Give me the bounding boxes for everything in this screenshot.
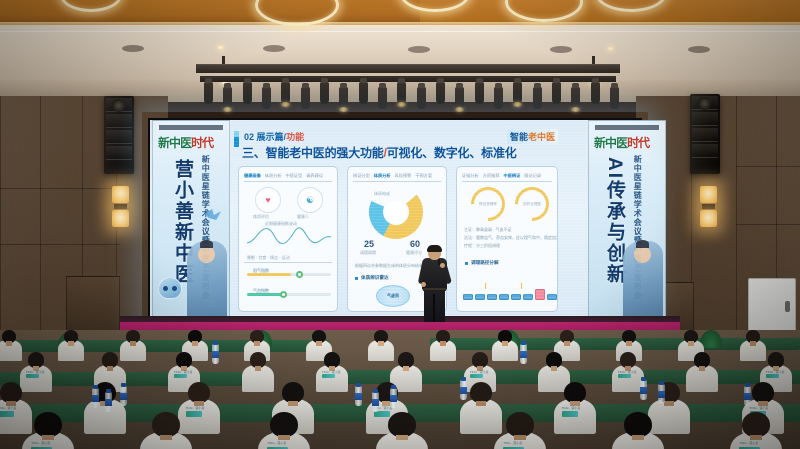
stage-par-light — [320, 82, 329, 104]
attendee-neck — [192, 341, 198, 346]
card-tab[interactable]: 随访记录 — [524, 173, 541, 179]
stage-par-light — [455, 87, 464, 109]
heart-icon: ♥ — [265, 195, 270, 205]
line-array-speaker — [690, 94, 720, 174]
water-bottle — [120, 386, 127, 406]
water-bottle — [640, 380, 647, 400]
stage-light-lens-icon — [281, 102, 290, 107]
stage-light-lens-icon — [513, 102, 522, 107]
attendee-head — [752, 382, 774, 403]
divider — [244, 262, 332, 263]
bottle-label — [520, 351, 527, 358]
card-tab-bar[interactable]: 辨证分型 体质分析 风险预警 干预方案 — [353, 171, 442, 180]
audience-member — [612, 412, 664, 449]
bottle-label — [640, 387, 647, 394]
stage-par-light — [591, 82, 600, 104]
attendee-neck — [632, 435, 643, 440]
stage-par-light — [494, 87, 503, 109]
slide-kicker: 02 展示篇/功能 — [244, 130, 304, 143]
banner-logo-main: 新中医 — [594, 136, 627, 150]
divider — [244, 181, 332, 182]
bottle-cap — [521, 341, 526, 345]
stage-par-light — [262, 87, 271, 109]
attendee-neck — [107, 366, 114, 371]
stage-par-light — [204, 82, 213, 104]
divider — [353, 181, 441, 182]
dashboard-card-health-profile[interactable]: 健康画像 体质分析 中医证型 调养建议 ♥ ☯ 体质评估 健康人 近期健康指数波… — [238, 166, 338, 312]
radar-chip: 气虚质 — [376, 285, 410, 307]
audience-member — [242, 352, 274, 390]
tee-logo — [26, 374, 39, 378]
slide-kicker-main: 展示篇 — [257, 132, 284, 142]
attendee-neck — [564, 341, 570, 346]
slide-accent-bar-top — [234, 131, 239, 137]
attendee-head — [270, 412, 297, 437]
ceiling-main-soffit — [0, 25, 800, 83]
tee-logo — [618, 374, 631, 378]
card-tab-bar[interactable]: 健康画像 体质分析 中医证型 调养建议 — [244, 171, 333, 180]
tee-logo-text: TING · 营小善 — [618, 370, 637, 374]
conference-hall-scene: 02 展示篇/功能 三、智能老中医的强大功能/可视化、数字化、标准化 智能老中医… — [0, 0, 800, 449]
attendee-neck — [551, 366, 558, 371]
water-bottle — [372, 392, 379, 412]
audience-member: TING · 营小善 — [730, 412, 782, 449]
presenter-hand — [421, 282, 426, 287]
bottle-cap — [93, 385, 98, 389]
audience-member: TING · 营小善 — [494, 412, 546, 449]
stage-par-light — [301, 87, 310, 109]
diagnosis-bullet: 治法：健脾益气、养血安神，佐以理气和中，随症加减 — [464, 235, 558, 241]
bottle-cap — [745, 383, 750, 387]
gauge-accuracy-label: 辨证准确率 — [471, 202, 505, 207]
attendee-head — [388, 412, 415, 437]
pathway-pill[interactable] — [463, 294, 473, 300]
bottle-cap — [391, 385, 396, 389]
card-tab[interactable]: 体质分析 — [265, 173, 282, 179]
robot-head-icon — [155, 277, 185, 313]
tee-logo-text: TING · 营小善 — [26, 370, 45, 374]
tee-logo — [322, 374, 335, 378]
attendee-neck — [278, 435, 289, 440]
constitution-donut-chart — [360, 185, 432, 239]
audience-member — [140, 412, 192, 449]
tee-logo — [0, 411, 14, 417]
bottle-label — [460, 387, 467, 394]
pathway-pill-row — [463, 289, 557, 300]
attendee-neck — [514, 435, 525, 440]
tee-logo-text: TING · 营小善 — [267, 441, 286, 445]
card-note: 根据四诊合参数据生成的体质分布结果 — [355, 263, 423, 269]
attendee-neck — [664, 401, 673, 406]
tee-logo-text: TING · 营小善 — [503, 441, 522, 445]
stage-par-light — [436, 82, 445, 104]
slide-title: 三、智能老中医的强大功能/可视化、数字化、标准化 — [242, 144, 517, 161]
stage-light-lens-icon — [223, 107, 232, 112]
scholar-illustration-right — [623, 241, 663, 319]
bottle-cap — [356, 383, 361, 387]
bottle-cap — [213, 341, 218, 345]
slider-knob[interactable] — [296, 271, 303, 278]
wall-sconce-icon — [112, 186, 129, 228]
line-array-speaker — [104, 96, 134, 174]
section-marker — [355, 277, 358, 280]
constitution-icon-badge: ♥ — [255, 187, 281, 213]
health-trend-line-chart — [247, 223, 331, 249]
attendee-head — [0, 382, 22, 403]
lighting-truss — [196, 64, 620, 73]
card-tab[interactable]: 健康画像 — [244, 173, 261, 179]
banner-headline-right: AI传承与创新 — [605, 157, 624, 285]
bottle-label — [92, 395, 99, 402]
water-bottle — [460, 380, 467, 400]
presenter-speaking — [419, 246, 449, 324]
tee-logo-text: TING · 营小善 — [750, 406, 769, 410]
stage-light-lens-icon — [397, 102, 406, 107]
slide-title-part-b: 可视化、数字化、标准化 — [387, 146, 517, 160]
slider-track[interactable] — [247, 293, 331, 296]
brand-logo-main: 智能 — [510, 132, 528, 142]
diagnosis-bullet: 主证：脾胃虚弱 · 气血不足 — [464, 227, 512, 233]
attendee-neck — [403, 366, 410, 371]
tee-logo-text: TING · 营小善 — [322, 370, 341, 374]
audience-member — [430, 330, 456, 360]
ceiling-speaker-icon — [688, 46, 710, 53]
speaker-cone-icon — [698, 97, 711, 110]
attendee-head — [34, 412, 61, 437]
attendee-head — [564, 382, 586, 403]
ceiling-speaker-icon — [263, 45, 285, 52]
attendee-head — [152, 412, 179, 437]
stage-par-light — [243, 82, 252, 104]
stage-par-light — [417, 87, 426, 109]
card-tab[interactable]: 中医辨证 — [504, 173, 521, 179]
bottle-cap — [461, 377, 466, 381]
dashboard-card-tcm-diagnosis[interactable]: 证候分析 方药推荐 中医辨证 随访记录 辨证准确率 用药合理度 主证：脾胃虚弱 … — [456, 166, 558, 312]
audience-member: TING · 营小善 — [258, 412, 310, 449]
tee-logo-text: TING · 营小善 — [766, 370, 785, 374]
water-bottle — [355, 386, 362, 406]
brand-logo-alt: 老中医 — [528, 132, 555, 142]
slide-kicker-number: 02 — [244, 132, 254, 142]
divider — [462, 181, 552, 182]
ceiling-downlight-icon — [608, 47, 613, 50]
tee-logo-text: TING · 营小善 — [186, 406, 205, 410]
tee-logo — [174, 374, 187, 378]
ceiling-downlight-icon — [218, 46, 223, 49]
slider-track[interactable] — [247, 273, 331, 276]
pathway-pill[interactable] — [475, 294, 485, 300]
attendee-neck — [68, 341, 74, 346]
pathway-pill-highlight[interactable] — [535, 289, 545, 300]
kpi-left-caption: 调理周期 — [360, 250, 376, 256]
audience-member: TING · 营小善 — [554, 382, 596, 432]
banner-top-bar — [595, 125, 659, 130]
banner-top-bar — [159, 125, 223, 130]
audience-member — [376, 412, 428, 449]
card-tab[interactable]: 体质分析 — [374, 173, 391, 179]
stage-par-light — [513, 82, 522, 104]
tee-logo-text: TING · 营小善 — [739, 441, 758, 445]
attendee-neck — [288, 401, 297, 406]
attendee-neck — [699, 366, 706, 371]
scholar-illustration-left — [187, 241, 227, 319]
kpi-left-value: 25 — [364, 239, 374, 249]
section-title: 体质辨识雷达 — [361, 275, 389, 281]
tee-logo — [470, 374, 483, 378]
conference-table — [0, 340, 330, 352]
pathway-pill[interactable] — [499, 294, 509, 300]
bottle-label — [658, 391, 665, 398]
stage-par-light — [359, 82, 368, 104]
audience-member: TING · 营小善 — [22, 412, 74, 449]
attendee-neck — [255, 366, 262, 371]
slider-row-qixue[interactable]: 气血指数 — [247, 289, 331, 299]
attendee-neck — [440, 341, 446, 346]
tee-logo-text: TING · 营小善 — [174, 370, 193, 374]
presenter-legs — [424, 290, 445, 324]
bottle-cap — [641, 377, 646, 381]
bottle-label — [390, 395, 397, 402]
stage-par-light — [223, 87, 232, 109]
pathway-connector — [485, 283, 486, 289]
attendee-head — [506, 412, 533, 437]
slider-row-yangqi[interactable]: 阳气指数 — [247, 269, 331, 279]
stage-light-lens-icon — [455, 107, 464, 112]
card-tab[interactable]: 调养建议 — [306, 173, 323, 179]
gauge-group: 辨证准确率 用药合理度 — [465, 187, 551, 221]
bottle-label — [372, 399, 379, 406]
attendee-head — [742, 412, 769, 437]
stage-par-light — [610, 87, 619, 109]
stage-par-light — [571, 87, 580, 109]
attendee-neck — [316, 341, 322, 346]
brand-logo: 智能老中医 — [507, 129, 558, 144]
attendee-neck — [396, 435, 407, 440]
water-bottle — [744, 386, 751, 406]
card-tab[interactable]: 辨证分型 — [353, 173, 370, 179]
audience-member — [0, 330, 22, 360]
bottle-label — [105, 399, 112, 406]
water-bottle — [390, 388, 397, 408]
attendee-neck — [42, 435, 53, 440]
section-marker — [465, 262, 468, 265]
bottle-cap — [373, 389, 378, 393]
card-tab[interactable]: 方药推荐 — [483, 173, 500, 179]
icon-right-caption: 健康人 — [297, 214, 309, 220]
tee-logo-text: TING · 营小善 — [0, 406, 16, 410]
tee-logo — [562, 411, 579, 417]
wall-sconce-icon — [700, 186, 717, 228]
attendee-neck — [688, 341, 694, 346]
banner-logo-badge: 时代 — [191, 136, 213, 150]
banner-logo-right: 新中医时代 — [594, 133, 649, 150]
attendee-neck — [378, 341, 384, 346]
presentation-slide: 02 展示篇/功能 三、智能老中医的强大功能/可视化、数字化、标准化 智能老中医… — [228, 120, 566, 320]
attendee-head — [188, 382, 210, 403]
section-title: 调理路径分解 — [471, 260, 499, 266]
tee-logo — [766, 374, 779, 378]
ceiling-speaker-icon — [408, 46, 430, 53]
slider-knob[interactable] — [280, 291, 287, 298]
water-bottle — [520, 344, 527, 364]
donut-label: 体质构成 — [374, 191, 390, 197]
attendee-head — [282, 382, 304, 403]
card-tab-bar[interactable]: 证候分析 方药推荐 中医辨证 随访记录 — [462, 171, 553, 180]
water-bottle — [105, 392, 112, 412]
stage-light-lens-icon — [571, 107, 580, 112]
banner-left: 新中医时代 营小善新中医 新中医星链学术会议暨中医AI发布会 — [152, 120, 230, 320]
attendee-head — [624, 412, 651, 437]
audience-member — [58, 330, 84, 360]
card-tab[interactable]: 风险预警 — [395, 173, 412, 179]
stage-par-light — [397, 82, 406, 104]
slide-kicker-highlight: 功能 — [286, 132, 304, 142]
water-bottle — [92, 388, 99, 408]
speaker-cone-icon — [112, 99, 125, 112]
stage-par-light — [552, 82, 561, 104]
stage-par-light — [339, 87, 348, 109]
attendee-neck — [476, 401, 485, 406]
audience-member — [686, 352, 718, 390]
attendee-neck — [750, 435, 761, 440]
pathway-connector — [521, 283, 522, 289]
card-tab[interactable]: 中医证型 — [286, 173, 303, 179]
card-tab[interactable]: 证候分析 — [462, 173, 479, 179]
stage-par-light — [533, 87, 542, 109]
slide-title-part-a: 三、智能老中医的强大功能 — [242, 146, 384, 160]
icon-left-caption: 体质评估 — [253, 214, 269, 220]
tee-logo-text: TING · 营小善 — [31, 441, 50, 445]
bottle-label — [212, 351, 219, 358]
banner-logo-left: 新中医时代 — [158, 133, 213, 150]
stage-par-light — [378, 87, 387, 109]
bottle-cap — [106, 389, 111, 393]
banner-logo-main: 新中医 — [158, 136, 191, 150]
attendee-neck — [130, 341, 136, 346]
card-tab[interactable]: 干预方案 — [415, 173, 432, 179]
ceiling-seam-line — [0, 31, 800, 32]
attendee-neck — [254, 341, 260, 346]
presenter-hand — [440, 263, 445, 268]
healthy-icon-badge: ☯ — [297, 187, 323, 213]
bottle-label — [120, 393, 127, 400]
bottle-label — [744, 393, 751, 400]
gauge-rationality-label: 用药合理度 — [515, 202, 549, 207]
ceiling-speaker-icon — [550, 46, 572, 53]
ceiling-speaker-icon — [122, 45, 144, 52]
pathway-pill[interactable] — [547, 294, 557, 300]
bottle-cap — [659, 381, 664, 385]
presenter-hair — [427, 245, 442, 252]
chart-legend: 睡眠 · 饮食 · 情志 · 运动 — [247, 255, 290, 261]
wall-left — [0, 96, 168, 346]
water-bottle — [212, 344, 219, 364]
pathway-pill[interactable] — [487, 294, 497, 300]
stage-par-light — [281, 82, 290, 104]
audience-member: TING · 营小善 — [316, 352, 348, 390]
attendee-neck — [160, 435, 171, 440]
tee-logo-text: TING · 营小善 — [562, 406, 581, 410]
attendee-neck — [750, 341, 756, 346]
stage-par-light — [475, 82, 484, 104]
yinyang-icon: ☯ — [306, 195, 314, 206]
radar-chip-label: 气虚质 — [387, 293, 399, 299]
water-bottle — [658, 384, 665, 404]
tee-logo-text: TING · 营小善 — [470, 370, 489, 374]
attendee-neck — [626, 341, 632, 346]
attendee-neck — [6, 341, 12, 346]
stage-light-lens-icon — [339, 107, 348, 112]
bottle-label — [355, 393, 362, 400]
attendee-neck — [502, 341, 508, 346]
attendee-head — [470, 382, 492, 403]
bottle-cap — [121, 383, 126, 387]
pathway-pill[interactable] — [523, 294, 533, 300]
banner-logo-badge: 时代 — [627, 136, 649, 150]
pathway-pill[interactable] — [511, 294, 521, 300]
banner-right: 新中医时代 AI传承与创新 新中医星链学术会议暨中医AI发布会 — [588, 120, 666, 320]
diagnosis-bullet: 疗程：分三阶段调理 — [464, 243, 500, 249]
